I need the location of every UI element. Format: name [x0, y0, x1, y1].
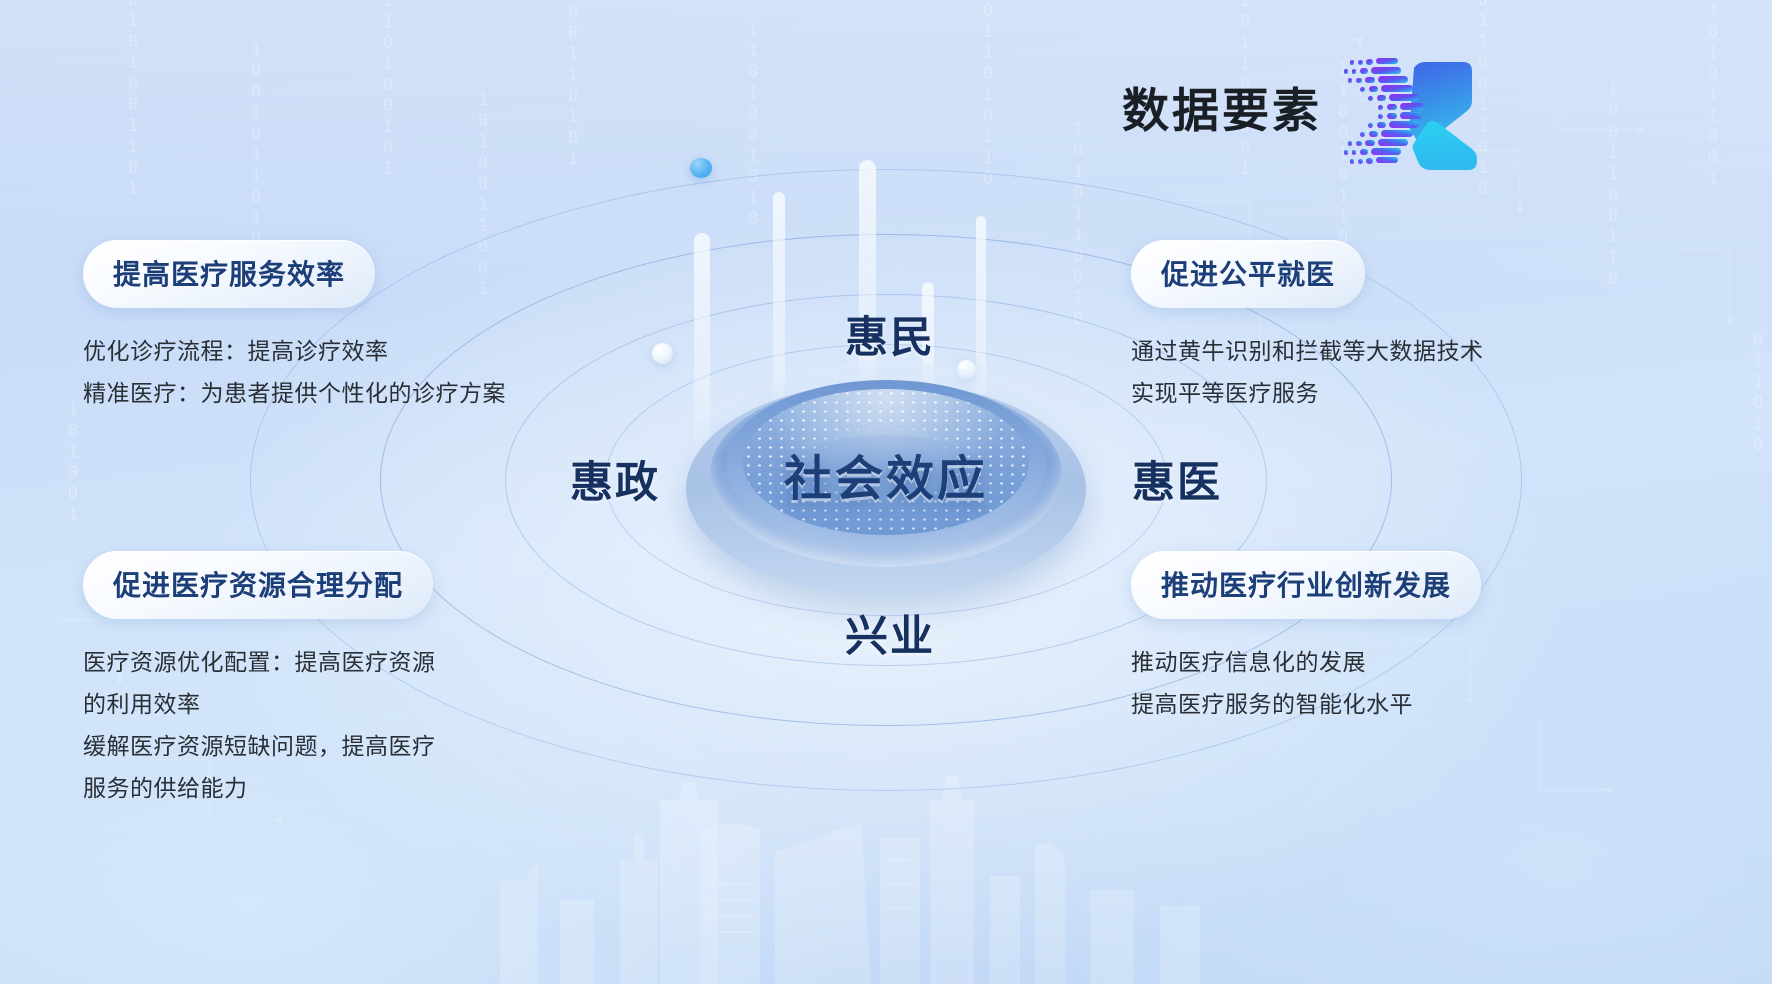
info-block-bottom-left: 促进医疗资源合理分配 医疗资源优化配置：提高医疗资源 的利用效率 缓解医疗资源短… [83, 551, 436, 809]
info-block-bottom-right: 推动医疗行业创新发展 推动医疗信息化的发展 提高医疗服务的智能化水平 [1131, 551, 1481, 725]
brand-name: 数据要素 [1122, 87, 1322, 134]
info-line: 服务的供给能力 [83, 767, 436, 809]
info-line: 优化诊疗流程：提高诊疗效率 [83, 330, 506, 372]
info-block-title-top-right: 促进公平就医 [1131, 240, 1365, 308]
info-block-top-right: 促进公平就医 通过黄牛识别和拦截等大数据技术 实现平等医疗服务 [1131, 240, 1484, 414]
info-line: 精准医疗：为患者提供个性化的诊疗方案 [83, 372, 506, 414]
info-block-desc-top-right: 通过黄牛识别和拦截等大数据技术 实现平等医疗服务 [1131, 330, 1484, 414]
info-line: 的利用效率 [83, 683, 436, 725]
info-line: 实现平等医疗服务 [1131, 372, 1484, 414]
info-line: 医疗资源优化配置：提高医疗资源 [83, 641, 436, 683]
cardinal-label-left: 惠政 [570, 448, 660, 510]
sphere-blue [690, 158, 712, 178]
info-line: 通过黄牛识别和拦截等大数据技术 [1131, 330, 1484, 372]
central-disc: 社会效应 [666, 349, 1106, 599]
center-title: 社会效应 [784, 439, 988, 509]
cardinal-label-top: 惠民 [845, 303, 935, 365]
info-block-title-top-left: 提高医疗服务效率 [83, 240, 375, 308]
info-line: 缓解医疗资源短缺问题，提高医疗 [83, 725, 436, 767]
poster-canvas: 0101001101 1001011010 0110100101 1010011… [0, 0, 1772, 984]
info-block-desc-bottom-left: 医疗资源优化配置：提高医疗资源 的利用效率 缓解医疗资源短缺问题，提高医疗 服务… [83, 641, 436, 809]
info-block-desc-bottom-right: 推动医疗信息化的发展 提高医疗服务的智能化水平 [1131, 641, 1481, 725]
info-block-desc-top-left: 优化诊疗流程：提高诊疗效率 精准医疗：为患者提供个性化的诊疗方案 [83, 330, 506, 414]
info-line: 提高医疗服务的智能化水平 [1131, 683, 1481, 725]
cardinal-label-right: 惠医 [1132, 448, 1222, 510]
info-block-title-bottom-right: 推动医疗行业创新发展 [1131, 551, 1481, 619]
brand-logo: 数据要素 [1122, 40, 1480, 180]
x-logo-icon [1332, 40, 1480, 180]
cardinal-label-bottom: 兴业 [845, 602, 935, 664]
info-block-title-bottom-left: 促进医疗资源合理分配 [83, 551, 433, 619]
info-block-top-left: 提高医疗服务效率 优化诊疗流程：提高诊疗效率 精准医疗：为患者提供个性化的诊疗方… [83, 240, 506, 414]
info-line: 推动医疗信息化的发展 [1131, 641, 1481, 683]
